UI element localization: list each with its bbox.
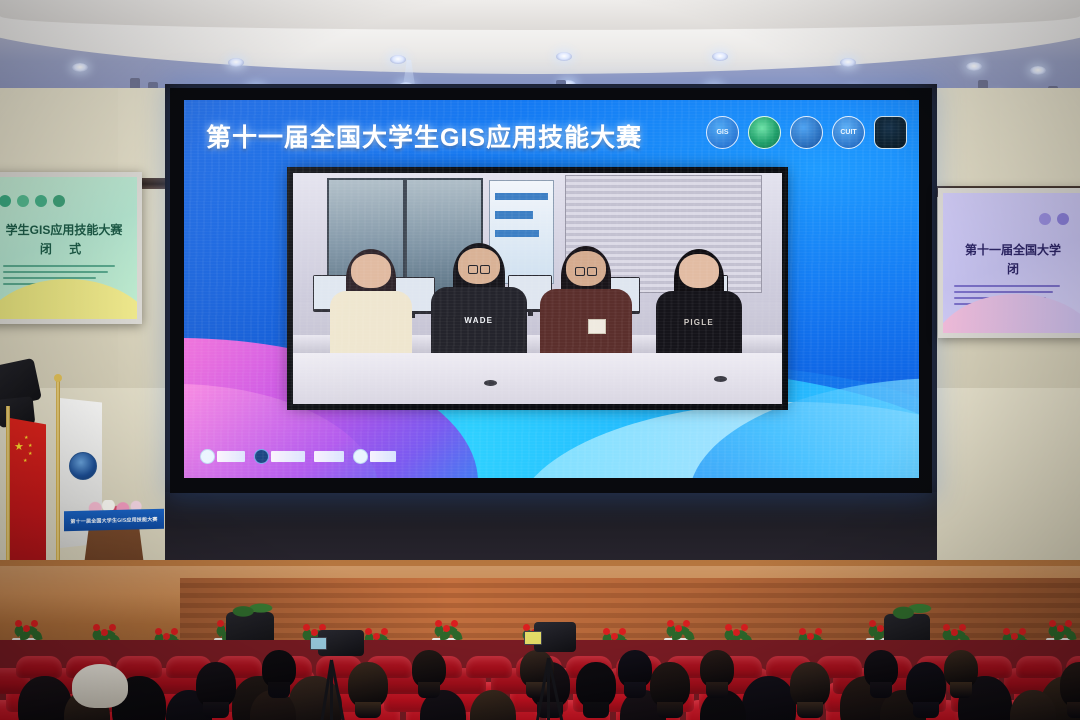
flag-star-4: ★	[23, 459, 27, 464]
red-bloom	[733, 629, 740, 636]
audience-member-shoulders	[870, 682, 892, 698]
projection-screen-right[interactable]: 第十一届全国大学 闭	[938, 188, 1080, 338]
red-bloom	[869, 620, 876, 627]
audience-seat[interactable]	[466, 656, 512, 678]
flag-star-1: ★	[24, 436, 28, 441]
red-bloom	[381, 628, 388, 635]
downlight-12	[712, 52, 728, 61]
projection-left-subtitle: 闭 式	[0, 240, 137, 257]
led-wall-display[interactable]: 第十一届全国大学生GIS应用技能大赛 GIS CUIT	[184, 100, 919, 478]
red-bloom	[93, 624, 100, 631]
red-bloom	[1003, 628, 1010, 635]
red-bloom	[1019, 628, 1026, 635]
projection-left-title: 学生GIS应用技能大赛	[0, 221, 137, 238]
red-bloom	[799, 628, 806, 635]
audience-member-shoulders	[797, 702, 823, 718]
red-bloom	[303, 624, 310, 631]
audience-member-shoulders	[418, 682, 440, 698]
audience-member-shoulders	[355, 702, 381, 718]
audience-seat[interactable]	[16, 656, 62, 678]
red-bloom	[365, 628, 372, 635]
audience-member-white-cap	[72, 664, 128, 708]
podium-banner-text: 第十一届全国大学生GIS应用技能大赛	[70, 515, 157, 524]
red-bloom	[611, 633, 618, 640]
red-bloom	[943, 624, 950, 631]
red-bloom	[311, 629, 318, 636]
flag-china-cloth: ★ ★ ★ ★ ★	[10, 418, 46, 576]
red-bloom	[31, 620, 38, 627]
downlight-6	[390, 55, 406, 64]
red-bloom	[815, 628, 822, 635]
planter-left-foliage	[230, 596, 274, 618]
red-bloom	[109, 624, 116, 631]
red-bloom	[667, 620, 674, 627]
projection-left-icons	[0, 195, 65, 207]
downlight-1	[72, 63, 88, 72]
audience-member-shoulders	[706, 682, 728, 698]
planter-right-foliage	[888, 596, 932, 620]
flag-star-3: ★	[28, 452, 32, 457]
downlight-17	[966, 62, 982, 71]
red-bloom	[171, 628, 178, 635]
red-bloom	[741, 624, 748, 631]
auditorium-scene: 第十一届全国大学生GIS应用技能大赛 GIS CUIT	[0, 0, 1080, 720]
audience-member-shoulders	[657, 702, 683, 718]
red-bloom	[217, 620, 224, 627]
projection-screen-left[interactable]: 学生GIS应用技能大赛 闭 式	[0, 172, 142, 324]
red-bloom	[443, 625, 450, 632]
ceiling-front-edge	[0, 0, 1080, 30]
red-bloom	[603, 628, 610, 635]
red-bloom	[683, 620, 690, 627]
university-emblem	[69, 452, 97, 480]
red-bloom	[725, 624, 732, 631]
camera-left-screen	[310, 637, 327, 650]
flag-star-2: ★	[28, 444, 32, 449]
flagpole-finial	[54, 374, 62, 382]
red-bloom	[523, 624, 530, 631]
led-sheen	[184, 100, 919, 478]
projection-left-content: 学生GIS应用技能大赛 闭 式	[0, 177, 137, 319]
red-bloom	[373, 633, 380, 640]
audience-member-shoulders	[913, 702, 939, 718]
wall-panel-right-lower	[925, 388, 1080, 578]
red-bloom	[101, 629, 108, 636]
projection-right-icons	[1039, 213, 1069, 225]
flagpole-university	[56, 380, 60, 580]
red-bloom	[959, 624, 966, 631]
red-bloom	[877, 625, 884, 632]
red-bloom	[451, 620, 458, 627]
red-bloom	[951, 629, 958, 636]
red-bloom	[1011, 633, 1018, 640]
audience-seat[interactable]	[1016, 656, 1062, 678]
downlight-9	[556, 52, 572, 61]
podium-banner: 第十一届全国大学生GIS应用技能大赛	[64, 509, 164, 532]
projection-right-title: 第十一届全国大学	[943, 241, 1080, 258]
audience-member-shoulders	[268, 682, 290, 698]
audience-member-shoulders	[1067, 702, 1080, 718]
red-bloom	[15, 620, 22, 627]
red-bloom	[23, 625, 30, 632]
red-bloom	[1057, 625, 1064, 632]
red-bloom	[163, 633, 170, 640]
projection-right-subtitle: 闭	[943, 260, 1080, 277]
audience-member-shoulders	[624, 682, 646, 698]
red-bloom	[435, 620, 442, 627]
downlight-15	[840, 58, 856, 67]
red-bloom	[619, 628, 626, 635]
red-bloom	[1065, 620, 1072, 627]
flag-star-big: ★	[14, 442, 24, 453]
red-bloom	[155, 628, 162, 635]
audience-member-shoulders	[203, 702, 229, 718]
audience-member-shoulders	[950, 682, 972, 698]
red-bloom	[675, 625, 682, 632]
projection-right-content: 第十一届全国大学 闭	[943, 193, 1080, 333]
red-bloom	[807, 633, 814, 640]
downlight-3	[228, 58, 244, 67]
red-bloom	[1049, 620, 1056, 627]
audience-member-shoulders	[583, 702, 609, 718]
camera-right-screen	[524, 631, 542, 645]
downlight-19	[1030, 66, 1046, 75]
